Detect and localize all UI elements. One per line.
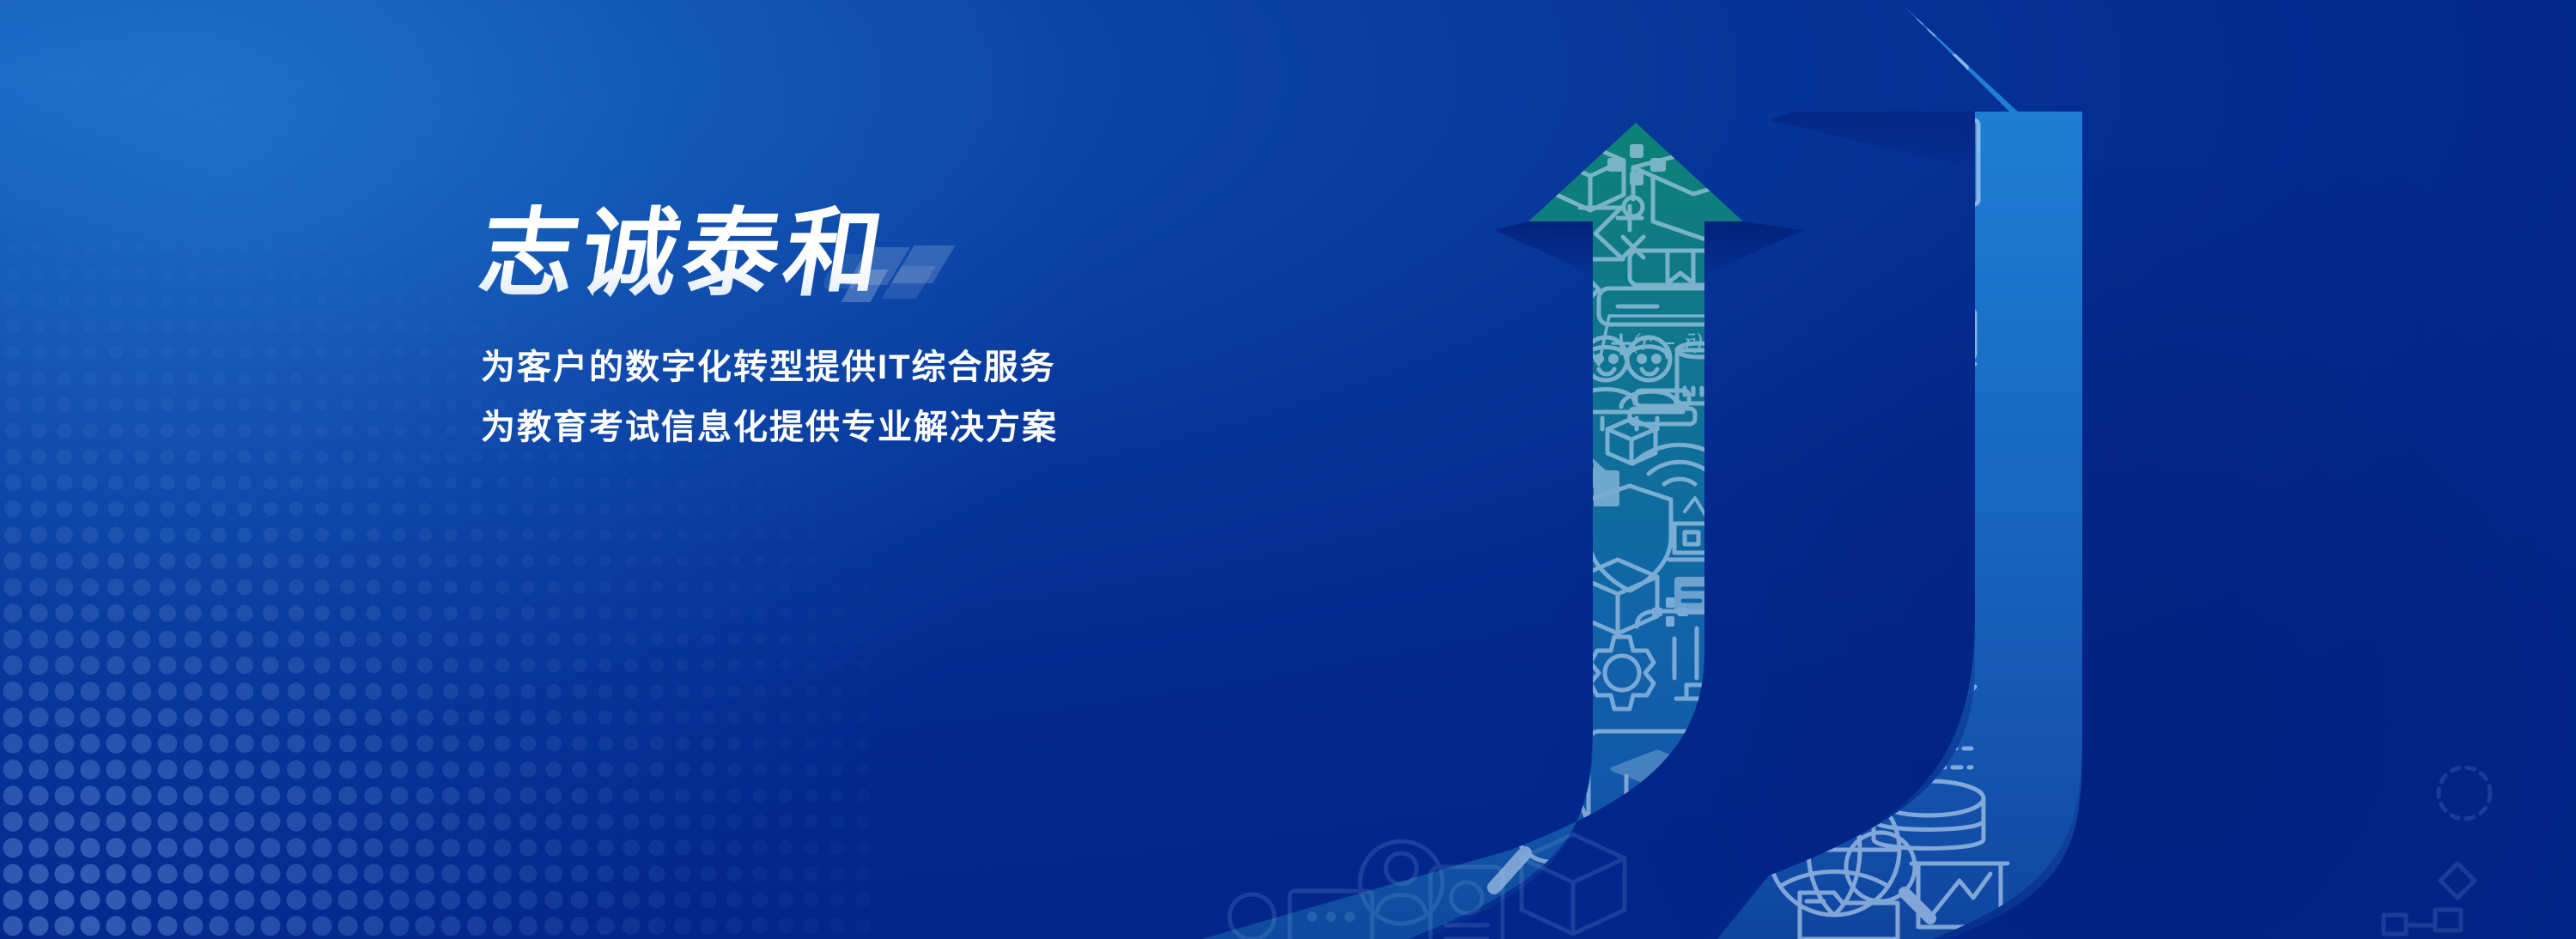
cube-wire-icon [1607,419,1656,463]
formula-sqrt-icon: (r − r̄)²/n [1589,316,1734,365]
globe-search-icon [1769,785,1930,918]
dashed-circle-icon [1918,476,1959,517]
video-camera-icon [1903,292,1965,336]
node-tree-icon [2384,910,2461,934]
chat-dots-icon [1290,891,1372,939]
books-stack-icon [1599,251,1736,324]
presentation-board-icon [1911,863,2008,939]
document-stack-icon [1801,43,1860,88]
it-technology-arrow: AI [1709,4,2082,939]
hero-text-block: 志诚泰和 为客户的数字化转型提供IT综合服务 为教育考试信息化提供专业解决方案 [481,203,1468,448]
waveform-icon [1820,256,1862,275]
video-conference-icon [1886,309,1975,364]
dashed-line-icon [1915,748,1971,767]
certificate-cap-icon [1589,731,1719,894]
diamond-sparkle-icon [1559,772,1580,793]
school-building-icon [1554,443,1619,506]
sparkle-plus-icon [1872,275,1908,304]
wifi-signal-icon [1633,445,1726,484]
id-card-icon [1431,867,1503,939]
sparkle-plus-icon [1607,144,1666,185]
tagline-line-2: 为教育考试信息化提供专业解决方案 [481,407,1468,448]
plus-x-icon [1618,206,1643,257]
dashed-circle-icon [2439,767,2490,819]
chart-bars-icon [1726,316,1759,398]
books-stack-icon [1630,391,1695,424]
diamond-sparkle-icon [1855,757,1882,785]
waveform-icon [1920,515,1968,544]
webcam-icon [1889,419,1927,463]
microphone-icon [1822,379,1884,467]
circle-decor-icon [1846,594,1863,611]
cube-wire-icon [1578,560,1657,633]
shield-icon [1589,486,1671,591]
paper-plane-icon [1917,687,1975,731]
tagline-block: 为客户的数字化转型提供IT综合服务 为教育考试信息化提供专业解决方案 [481,347,1468,448]
database-icon [1874,781,1984,849]
svg-text:AI: AI [1935,384,1968,420]
gear-icon [1590,637,1654,709]
dashed-line-icon [1932,249,1978,268]
folder-icon [1800,893,1898,939]
clipboard-list-icon [1922,110,1978,204]
parallelogram-logo-mark [824,235,987,309]
arrow-graphics: (r − r̄)²/n [0,0,2576,939]
desk-monitor-icon [1834,690,1906,774]
cloud-storage-icon [1810,503,1907,558]
hero-banner: (r − r̄)²/n [0,0,2576,939]
server-rack-icon [1669,524,1774,560]
tail-icons [1230,767,2490,939]
svg-text:(r − r̄)²/n: (r − r̄)²/n [1631,330,1734,356]
person-tie-icon [1826,268,1877,354]
dots-decor-icon [1836,103,1885,111]
waveform-icon [1685,496,1736,515]
database-icon [1826,118,1901,167]
diamond-sparkle-icon [1570,275,1599,304]
tagline-line-1: 为客户的数字化转型提供IT综合服务 [481,347,1468,388]
background-shadow [1460,167,2576,939]
sparkle-plus-icon [1652,597,1688,627]
diamond-sparkle-icon [1815,488,1839,512]
diamond-sparkle-icon [1862,213,1889,240]
bar-chart-icon [1637,611,1733,699]
diamond-sparkle-icon [2440,863,2475,898]
circle-decor-icon [1230,894,1274,939]
window-screen-icon [1850,573,1966,678]
students-pair-icon [1573,337,1683,429]
dots-decor-icon [1849,581,1857,646]
person-at-desk-icon [1832,215,1925,316]
user-avatar-icon [1360,841,1443,924]
3d-cube-icon [1557,146,1624,210]
printer-scanner-icon [1865,17,1965,113]
webcam-icon [1905,270,1946,319]
cube-wire-icon [1522,834,1625,934]
video-camera-icon [1915,302,1954,328]
magnifier-icon [1494,790,1587,888]
brand-row: 志诚泰和 [481,203,1468,323]
background-glow [0,0,1185,939]
ai-head-icon: AI [1917,364,1975,434]
set-top-box-icon [1848,463,1975,515]
note-pencil-icon [1674,577,1769,620]
graduation-cap-icon [1624,148,1769,242]
sigma-sum-icon [1580,208,1623,259]
pen-holder-icon [1877,120,1918,203]
trash-bin-icon [1677,343,1722,403]
